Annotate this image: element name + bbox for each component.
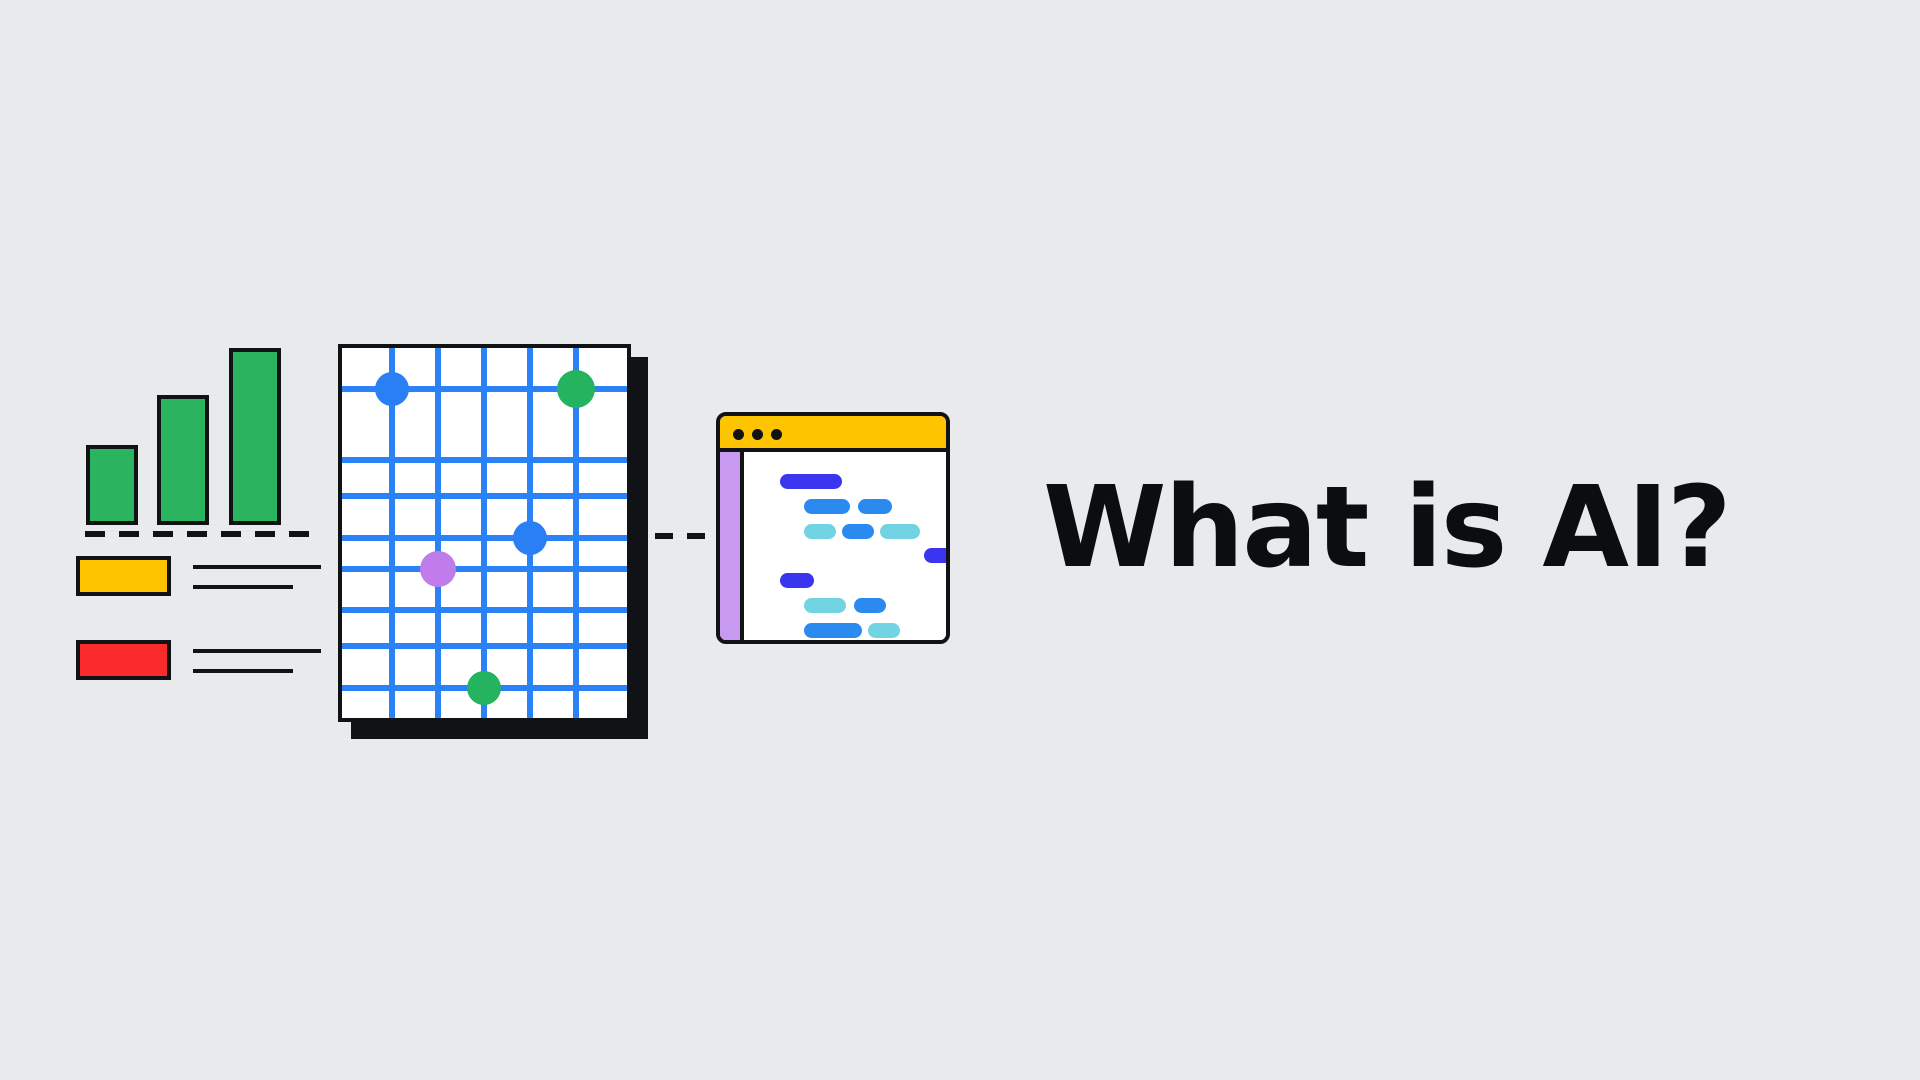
dashed-connector [655, 533, 723, 539]
page-title: What is AI? [1043, 470, 1743, 588]
code-line [868, 623, 900, 638]
window-maximize-icon[interactable] [771, 429, 782, 440]
code-line [804, 524, 836, 539]
code-line [804, 623, 862, 638]
legend-text-line [193, 565, 321, 569]
code-window [716, 412, 950, 644]
bar-chart-bar-1 [86, 445, 138, 525]
code-window-titlebar [720, 416, 946, 452]
legend-text-line [193, 669, 293, 673]
legend-text-lines-red [193, 649, 321, 675]
code-line [858, 499, 892, 514]
grid-line-horizontal [338, 566, 631, 572]
legend-text-line [193, 649, 321, 653]
code-line [780, 474, 842, 489]
illustration-canvas: What is AI? [0, 0, 1920, 1080]
code-window-gutter [720, 452, 744, 640]
grid-line-horizontal [338, 607, 631, 613]
legend-row-red [76, 640, 321, 680]
dashed-divider [85, 531, 313, 537]
scatter-grid-card [338, 344, 648, 739]
grid-line-vertical [481, 344, 487, 722]
bar-chart-bar-3 [229, 348, 281, 525]
code-line [804, 499, 850, 514]
grid-line-horizontal [338, 493, 631, 499]
code-line [780, 573, 814, 588]
legend-swatch-yellow [76, 556, 171, 596]
grid-line-horizontal [338, 643, 631, 649]
code-line [854, 598, 886, 613]
dot-green-bottom [467, 671, 501, 705]
code-window-body [748, 452, 946, 640]
dot-green-top-right [557, 370, 595, 408]
code-line [842, 524, 874, 539]
legend-text-lines-yellow [193, 565, 321, 591]
window-minimize-icon[interactable] [752, 429, 763, 440]
grid-line-vertical [435, 344, 441, 722]
bar-chart [86, 345, 276, 525]
code-line [804, 598, 846, 613]
bar-chart-bar-2 [157, 395, 209, 525]
legend-text-line [193, 585, 293, 589]
legend [76, 556, 321, 676]
dot-blue-center [513, 521, 547, 555]
grid-line-horizontal [338, 457, 631, 463]
grid-line-horizontal [338, 535, 631, 541]
dot-purple-center-left [420, 551, 456, 587]
legend-swatch-red [76, 640, 171, 680]
dot-blue-top-left [375, 372, 409, 406]
window-close-icon[interactable] [733, 429, 744, 440]
code-line [880, 524, 920, 539]
code-line [924, 548, 950, 563]
scatter-grid-card-surface [338, 344, 631, 722]
legend-row-yellow [76, 556, 321, 596]
